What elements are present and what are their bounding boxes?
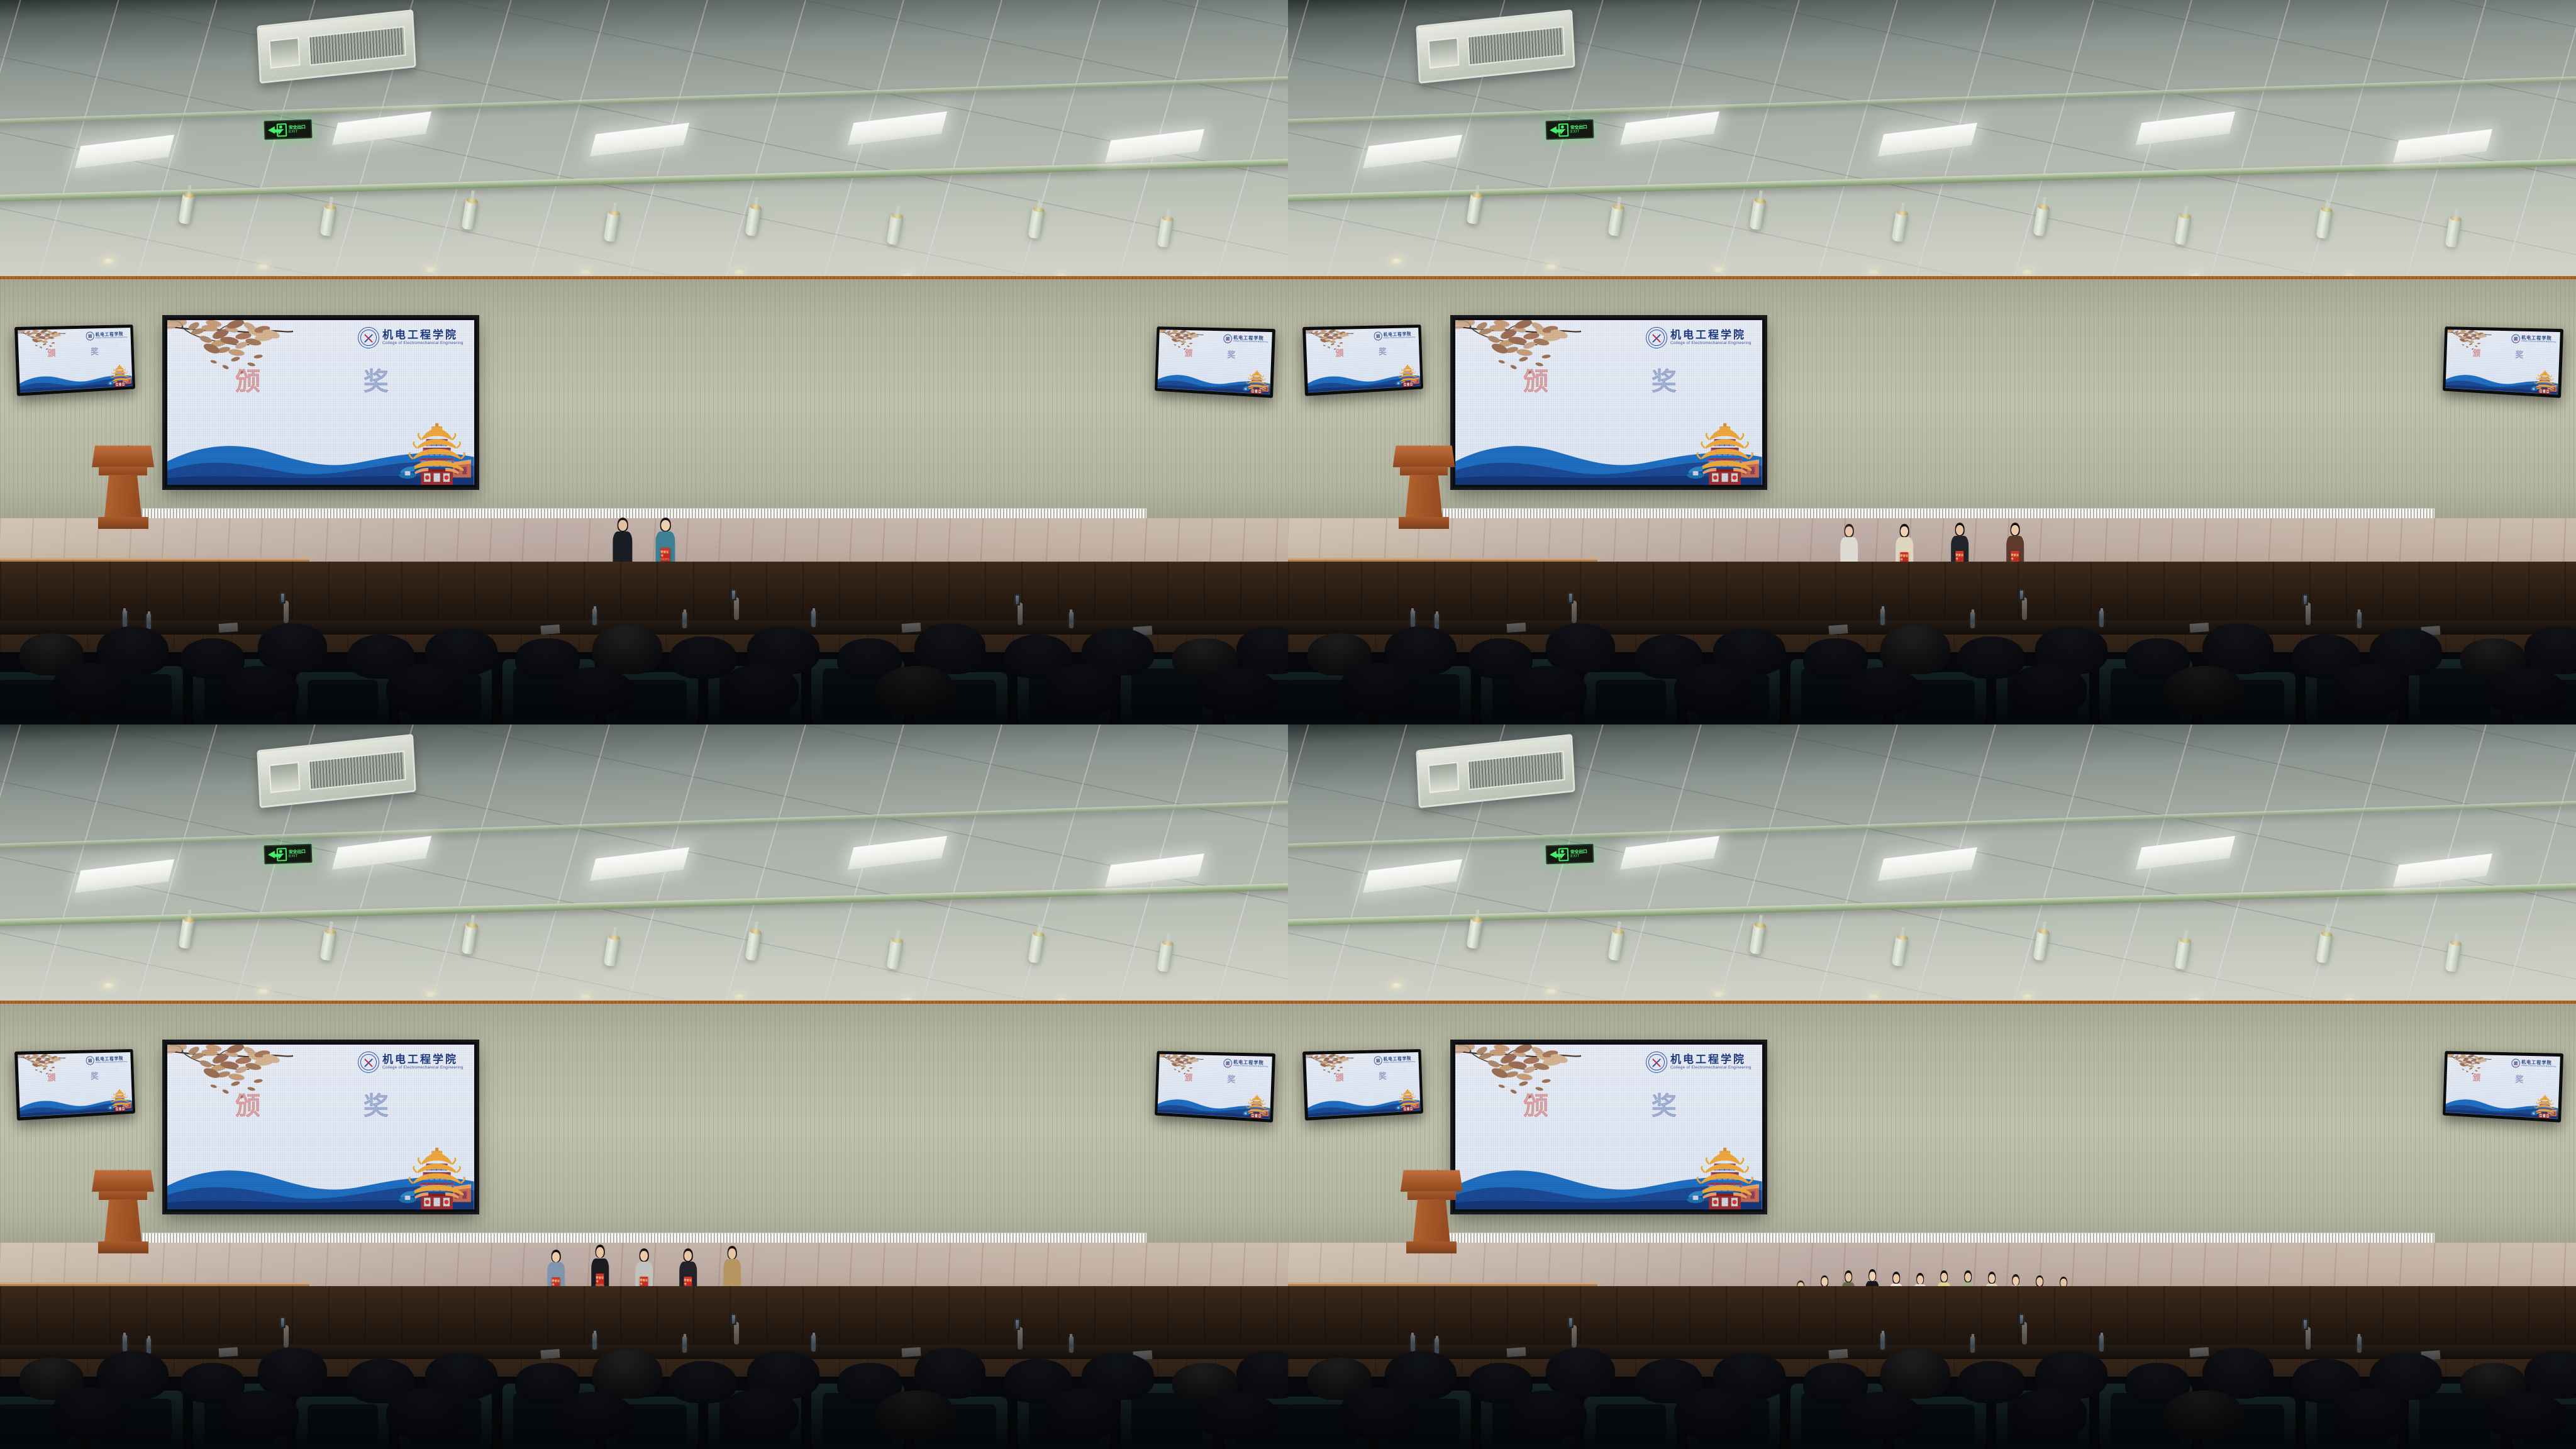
ceiling-light-panel (1878, 123, 1977, 157)
led-screen-content: 机电工程学院College of Electromechanical Engin… (1306, 1052, 1420, 1117)
collage-panel-bottom-right: 安全出口EXIT (1288, 724, 2576, 1449)
certificate-title-en: HONORARY CREDENTIAL (661, 558, 670, 561)
logo-name-en: College of Electromechanical Engineering (2521, 340, 2556, 343)
logo-text-block: 机电工程学院College of Electromechanical Engin… (95, 1057, 127, 1064)
track-spotlight (2316, 208, 2333, 240)
recessed-downlight (258, 264, 269, 270)
certificate-title-cn: 荣誉证书 (640, 1279, 648, 1286)
certificate-title-cn: 荣誉证书 (2011, 553, 2019, 561)
track-spotlight (319, 204, 336, 236)
exit-arrow-icon (268, 126, 275, 134)
logo-text-block: 机电工程学院College of Electromechanical Engin… (1383, 1057, 1415, 1064)
ceiling-rail (1288, 73, 2576, 126)
logo-name-en: College of Electromechanical Engineering (1233, 1064, 1268, 1067)
logo-text-block: 机电工程学院College of Electromechanical Engin… (1233, 335, 1268, 343)
person-head (1869, 1272, 1875, 1281)
college-logo: 机电工程学院College of Electromechanical Engin… (358, 1052, 464, 1073)
college-logo: 机电工程学院College of Electromechanical Engin… (1223, 1058, 1268, 1069)
track-spotlight (1028, 208, 1045, 240)
college-logo: 机电工程学院College of Electromechanical Engin… (86, 331, 127, 340)
screen-title-banjiang: 颁 奖 (47, 345, 104, 359)
running-man-icon (276, 848, 287, 862)
track-spotlight (1028, 932, 1045, 964)
logo-name-en: College of Electromechanical Engineering (1670, 341, 1752, 346)
recessed-downlight (2022, 994, 2033, 1000)
logo-text-block: 机电工程学院College of Electromechanical Engin… (1670, 330, 1752, 346)
track-spotlight (319, 929, 336, 961)
recessed-downlight (1546, 989, 1557, 994)
screen-title-banjiang: 颁 奖 (1335, 1070, 1392, 1084)
track-spotlight (1750, 199, 1767, 231)
college-logo: 机电工程学院College of Electromechanical Engin… (1646, 1052, 1752, 1073)
ceiling-light-panel (1620, 111, 1719, 145)
person-head (2036, 1277, 2043, 1286)
exit-label-en: EXIT (289, 130, 306, 134)
track-spotlight (178, 918, 195, 950)
recessed-downlight (734, 270, 745, 275)
logo-seal-icon (1646, 1052, 1667, 1073)
logo-name-cn: 机电工程学院 (1670, 1055, 1752, 1066)
screen-title-banjiang: 颁 奖 (1185, 347, 1242, 360)
recessed-downlight (1391, 258, 1402, 264)
running-man-icon (1558, 848, 1568, 862)
logo-text-block: 机电工程学院College of Electromechanical Engin… (1233, 1060, 1268, 1067)
ceiling-light-panel (1620, 836, 1719, 870)
exit-label-en: EXIT (1570, 854, 1587, 858)
exit-arrow-icon (1549, 126, 1556, 134)
screen-title-banjiang: 颁 奖 (1185, 1071, 1242, 1085)
person-head (1893, 1274, 1899, 1283)
logo-name-en: College of Electromechanical Engineering (1233, 340, 1268, 343)
exit-sign-labels: 安全出口EXIT (289, 850, 306, 858)
ceiling-light-panel (75, 859, 174, 893)
air-conditioner-unit (1416, 9, 1575, 84)
logo-name-cn: 机电工程学院 (1670, 330, 1752, 341)
person-head (596, 1247, 604, 1258)
logo-name-cn: 机电工程学院 (382, 1055, 464, 1066)
exit-label-en: EXIT (1570, 130, 1587, 134)
certificate-title-cn: 荣誉证书 (684, 1279, 692, 1286)
audience-area (1288, 562, 2576, 724)
led-screen-content: 机电工程学院College of Electromechanical Engin… (2445, 1054, 2560, 1119)
recessed-downlight (734, 994, 745, 1000)
ceiling: 安全出口EXIT (0, 724, 1288, 1018)
logo-name-en: College of Electromechanical Engineering (382, 1066, 464, 1070)
person-head (1989, 1274, 1995, 1283)
person-head (552, 1252, 560, 1262)
track-spotlight (1157, 941, 1174, 973)
track-spotlight (603, 935, 620, 967)
exit-sign-labels: 安全出口EXIT (1570, 125, 1587, 134)
ceiling-light-panel (332, 111, 431, 145)
recessed-downlight (2022, 270, 2033, 275)
ceiling-light-panel (1363, 859, 1462, 893)
certificate-title-cn: 荣誉证书 (1900, 554, 1908, 562)
ceiling-light-panel (332, 836, 431, 870)
collage-panel-top-right: 安全出口EXIT (1288, 0, 2576, 724)
person-head (684, 1251, 692, 1261)
track-spotlight (2445, 216, 2462, 248)
logo-seal-icon (1223, 334, 1232, 343)
track-spotlight (462, 199, 479, 231)
track-spotlight (1607, 204, 1624, 236)
recessed-downlight (1391, 983, 1402, 989)
logo-name-en: College of Electromechanical Engineering (1383, 336, 1415, 339)
track-spotlight (462, 923, 479, 955)
college-logo: 机电工程学院College of Electromechanical Engin… (1374, 331, 1415, 340)
track-spotlight (745, 929, 762, 961)
recessed-downlight (425, 992, 436, 997)
audience-area (1288, 1286, 2576, 1449)
screen-title-banjiang: 颁 奖 (1523, 1085, 1694, 1122)
ceiling-rail (0, 156, 1288, 203)
audience-shadow-overlay (1288, 562, 2576, 724)
track-spotlight (2445, 941, 2462, 973)
logo-text-block: 机电工程学院College of Electromechanical Engin… (1383, 332, 1415, 340)
track-spotlight (1891, 211, 1908, 243)
track-spotlight (1750, 923, 1767, 955)
track-spotlight (1466, 918, 1483, 950)
audience-shadow-overlay (0, 1286, 1288, 1449)
logo-name-en: College of Electromechanical Engineering (95, 1061, 127, 1063)
person-head (1901, 526, 1908, 536)
track-spotlight (178, 193, 195, 225)
logo-seal-icon (86, 331, 94, 340)
college-logo: 机电工程学院College of Electromechanical Engin… (358, 327, 464, 348)
ceiling-rail (0, 797, 1288, 850)
college-logo: 机电工程学院College of Electromechanical Engin… (2511, 1058, 2556, 1069)
track-spotlight (886, 938, 903, 970)
running-man-icon (1558, 123, 1568, 137)
audience-area (0, 1286, 1288, 1449)
audience-shadow-overlay (1288, 1286, 2576, 1449)
logo-name-en: College of Electromechanical Engineering (1383, 1061, 1415, 1063)
ceiling-rail (1288, 156, 2576, 203)
ceiling: 安全出口EXIT (0, 0, 1288, 294)
air-conditioner-unit (257, 734, 416, 808)
logo-seal-icon (358, 1052, 379, 1073)
recessed-downlight (1713, 267, 1724, 273)
logo-name-en: College of Electromechanical Engineering (95, 336, 127, 339)
logo-name-en: College of Electromechanical Engineering (2521, 1064, 2556, 1067)
recessed-downlight (580, 994, 591, 1000)
exit-sign: 安全出口EXIT (1545, 844, 1594, 865)
person-head (1965, 1273, 1971, 1282)
ceiling-light-panel (1105, 129, 1204, 163)
track-spotlight (1466, 193, 1483, 225)
ceiling: 安全出口EXIT (1288, 0, 2576, 294)
collage-panel-bottom-left: 安全出口EXIT (0, 724, 1288, 1449)
person-head (2012, 1277, 2019, 1285)
logo-text-block: 机电工程学院College of Electromechanical Engin… (382, 1055, 464, 1070)
college-logo: 机电工程学院College of Electromechanical Engin… (1374, 1055, 1415, 1065)
recessed-downlight (103, 258, 114, 264)
side-screen-left: 机电工程学院College of Electromechanical Engin… (1302, 1050, 1423, 1121)
track-spotlight (2033, 929, 2050, 961)
photo-collage: 安全出口EXIT (0, 0, 2576, 1449)
certificate-title-cn: 荣誉证书 (596, 1276, 604, 1284)
audience-area (0, 562, 1288, 724)
track-spotlight (2174, 938, 2191, 970)
certificate-title-cn: 荣誉证书 (1955, 553, 1963, 561)
recessed-downlight (103, 983, 114, 989)
screen-title-banjiang: 颁 奖 (2473, 1071, 2530, 1085)
recessed-downlight (1713, 992, 1724, 997)
logo-seal-icon (1374, 331, 1382, 340)
logo-seal-icon (1374, 1056, 1382, 1065)
college-logo: 机电工程学院College of Electromechanical Engin… (2511, 334, 2556, 344)
person-head (661, 520, 670, 531)
exit-arrow-icon (268, 851, 275, 858)
college-logo: 机电工程学院College of Electromechanical Engin… (1223, 334, 1268, 344)
track-spotlight (603, 211, 620, 243)
screen-title-banjiang: 颁 奖 (1335, 345, 1392, 359)
ceiling-light-panel (847, 836, 947, 870)
audience-shadow-overlay (0, 562, 1288, 724)
logo-text-block: 机电工程学院College of Electromechanical Engin… (2521, 335, 2556, 343)
exit-sign: 安全出口EXIT (264, 844, 312, 865)
recessed-downlight (580, 270, 591, 275)
track-spotlight (2316, 932, 2333, 964)
screen-title-banjiang: 颁 奖 (47, 1070, 104, 1084)
certificate-title-cn: 荣誉证书 (661, 550, 670, 558)
exit-sign: 安全出口EXIT (264, 119, 312, 140)
logo-text-block: 机电工程学院College of Electromechanical Engin… (95, 332, 127, 340)
ceiling-rail (0, 880, 1288, 928)
person-head (1941, 1273, 1947, 1282)
side-screen-right: 机电工程学院College of Electromechanical Engin… (2443, 1051, 2563, 1123)
ceiling-light-panel (590, 847, 689, 881)
exit-sign: 安全出口EXIT (1545, 119, 1594, 140)
ceiling-light-panel (847, 111, 947, 145)
track-spotlight (886, 213, 903, 245)
ceiling-light-panel (590, 123, 689, 157)
ceiling-light-panel (1363, 135, 1462, 169)
air-conditioner-unit (257, 9, 416, 84)
logo-seal-icon (358, 327, 379, 348)
exit-sign-labels: 安全出口EXIT (289, 125, 306, 134)
recessed-downlight (258, 989, 269, 994)
air-conditioner-unit (1416, 734, 1575, 808)
recessed-downlight (1868, 994, 1879, 1000)
track-spotlight (1157, 216, 1174, 248)
exit-sign-labels: 安全出口EXIT (1570, 850, 1587, 858)
collage-panel-top-left: 安全出口EXIT (0, 0, 1288, 724)
ceiling: 安全出口EXIT (1288, 724, 2576, 1018)
recessed-downlight (1868, 270, 1879, 275)
track-spotlight (745, 204, 762, 236)
logo-name-en: College of Electromechanical Engineering (1670, 1066, 1752, 1070)
person-head (1917, 1275, 1923, 1284)
ceiling-light-panel (2135, 836, 2235, 870)
logo-text-block: 机电工程学院College of Electromechanical Engin… (2521, 1060, 2556, 1067)
pagoda-illustration (1391, 1086, 1419, 1112)
person-head (640, 1251, 648, 1261)
logo-seal-icon (2511, 334, 2520, 343)
track-spotlight (2174, 213, 2191, 245)
logo-seal-icon (1223, 1058, 1232, 1067)
screen-title-banjiang: 颁 奖 (2473, 347, 2530, 360)
ceiling-light-panel (1878, 847, 1977, 881)
college-logo: 机电工程学院College of Electromechanical Engin… (86, 1055, 127, 1065)
track-spotlight (1607, 929, 1624, 961)
exit-arrow-icon (1549, 851, 1556, 858)
person-head (1845, 526, 1853, 536)
college-logo: 机电工程学院College of Electromechanical Engin… (1646, 327, 1752, 348)
recessed-downlight (1546, 264, 1557, 270)
logo-name-en: College of Electromechanical Engineering (382, 341, 464, 346)
running-man-icon (276, 123, 287, 137)
track-spotlight (2033, 204, 2050, 236)
logo-name-cn: 机电工程学院 (382, 330, 464, 341)
pagoda-illustration (2527, 1091, 2557, 1119)
logo-seal-icon (1646, 327, 1667, 348)
person-head (728, 1248, 736, 1259)
logo-text-block: 机电工程学院College of Electromechanical Engin… (1670, 1055, 1752, 1070)
recessed-downlight (425, 267, 436, 273)
ceiling-light-panel (2135, 111, 2235, 145)
person-head (1821, 1277, 1828, 1286)
ceiling-rail (1288, 880, 2576, 928)
ceiling-rail (0, 73, 1288, 126)
ceiling-rail (1288, 797, 2576, 850)
logo-seal-icon (2511, 1058, 2520, 1067)
logo-seal-icon (86, 1056, 94, 1065)
ceiling-light-panel (1105, 853, 1204, 887)
ceiling-light-panel (75, 135, 174, 169)
exit-label-en: EXIT (289, 854, 306, 858)
logo-text-block: 机电工程学院College of Electromechanical Engin… (382, 330, 464, 346)
person-head (1845, 1273, 1851, 1282)
track-spotlight (1891, 935, 1908, 967)
person-head (618, 520, 627, 531)
ceiling-light-panel (2393, 129, 2492, 163)
ceiling-light-panel (2393, 853, 2492, 887)
